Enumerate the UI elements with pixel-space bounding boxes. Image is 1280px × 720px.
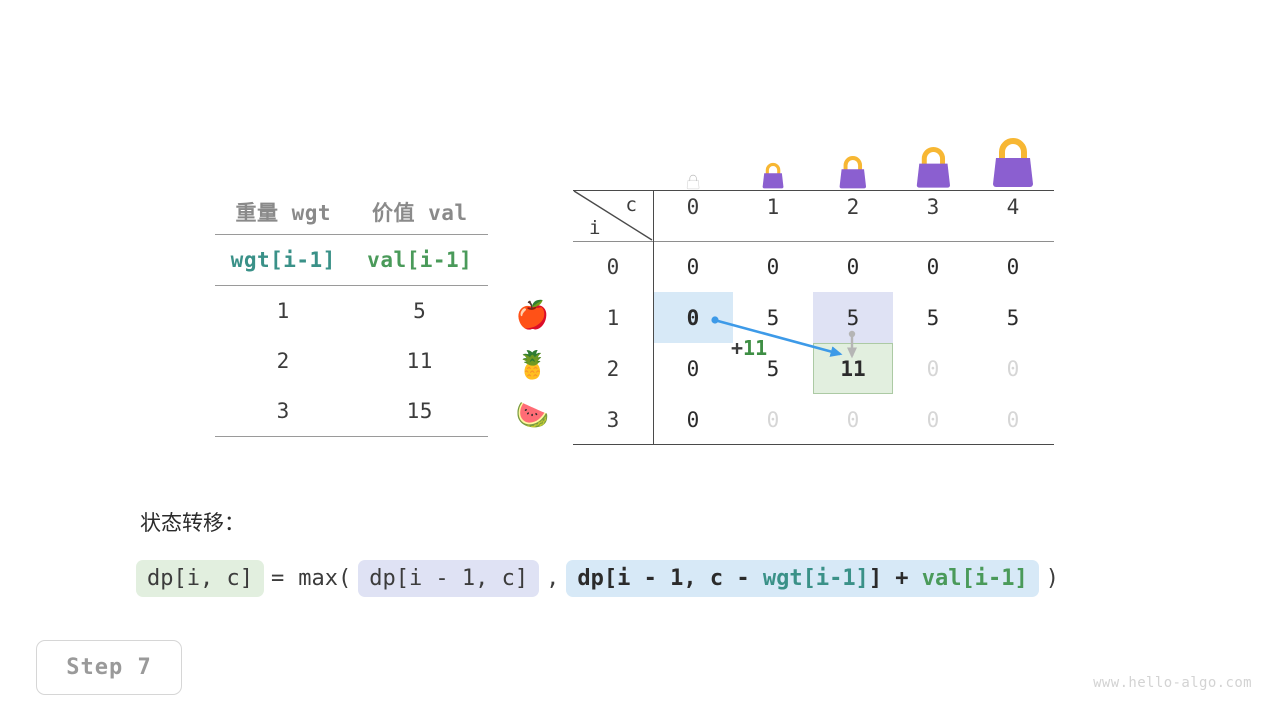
items-header-value: 价值 val (352, 197, 489, 227)
formula-comma: , (539, 566, 566, 591)
formula-option-skip: dp[i - 1, c] (358, 560, 539, 597)
dp-col-header-4: 4 (973, 195, 1053, 219)
dp-cell-3-2: 0 (813, 394, 893, 445)
dp-corner-col-label: c (626, 194, 637, 216)
formula-take-prefix: dp[i - 1, c - (577, 566, 762, 591)
item-1-weight: 1 (215, 299, 352, 323)
status-badge: Step 7 (36, 640, 182, 695)
dp-corner-row-label: i (589, 217, 600, 239)
fruit-icon-column: 🍎 🍍 🍉 (505, 290, 560, 440)
dp-cell-0-4: 0 (973, 241, 1053, 292)
items-table-subheader-row: wgt[i-1] val[i-1] (215, 235, 488, 285)
formula-option-take: dp[i - 1, c - wgt[i-1]] + val[i-1] (566, 560, 1038, 597)
bag-icon-capacity-0 (653, 120, 733, 190)
items-table-header-row: 重量 wgt 价值 val (215, 190, 488, 234)
item-2-value: 11 (352, 349, 489, 373)
dp-cell-0-0: 0 (653, 241, 733, 292)
dp-cell-2-4: 0 (973, 343, 1053, 394)
bag-icon-capacity-2 (813, 120, 893, 190)
bag-icon-capacity-1 (733, 120, 813, 190)
table-row: 1 5 (215, 286, 488, 336)
dp-cell-3-3: 0 (893, 394, 973, 445)
dp-cell-0-1: 0 (733, 241, 813, 292)
dp-row-header-3: 3 (573, 408, 653, 432)
item-3-value: 15 (352, 399, 489, 423)
dp-col-header-1: 1 (733, 195, 813, 219)
items-table-divider-bottom (215, 436, 488, 437)
dp-cell-3-1: 0 (733, 394, 813, 445)
dp-table: c i 01234 0123 000000555505110000000 (573, 190, 1054, 445)
diagonal-divider-icon (573, 190, 653, 241)
items-subheader-wgt: wgt[i-1] (215, 248, 352, 272)
dp-cell-0-2: 0 (813, 241, 893, 292)
dp-col-header-0: 0 (653, 195, 733, 219)
gain-annotation: +11 (731, 336, 767, 360)
watermelon-icon: 🍉 (505, 390, 560, 440)
item-3-weight: 3 (215, 399, 352, 423)
transition-title: 状态转移： (140, 507, 245, 537)
dp-cell-1-4: 5 (973, 292, 1053, 343)
apple-icon: 🍎 (505, 290, 560, 340)
dp-cell-0-3: 0 (893, 241, 973, 292)
formula-target: dp[i, c] (136, 560, 264, 597)
dp-row-header-1: 1 (573, 306, 653, 330)
formula-take-wgt: wgt[i-1] (763, 566, 869, 591)
formula-take-val: val[i-1] (922, 566, 1028, 591)
formula-close-paren: ) (1039, 566, 1066, 591)
bag-icon-row (653, 120, 1053, 190)
dp-row-header-0: 0 (573, 255, 653, 279)
item-2-weight: 2 (215, 349, 352, 373)
dp-cell-1-3: 5 (893, 292, 973, 343)
table-row: 2 11 (215, 336, 488, 386)
dp-col-header-2: 2 (813, 195, 893, 219)
gain-amount: 11 (743, 336, 767, 360)
items-header-weight: 重量 wgt (215, 197, 352, 227)
transition-formula: dp[i, c] = max( dp[i - 1, c] , dp[i - 1,… (136, 560, 1066, 597)
table-row: 3 15 (215, 386, 488, 436)
dp-cell-2-0: 0 (653, 343, 733, 394)
dp-row-header-2: 2 (573, 357, 653, 381)
items-subheader-val: val[i-1] (352, 248, 489, 272)
dp-cell-3-4: 0 (973, 394, 1053, 445)
watermark: www.hello-algo.com (1093, 675, 1252, 691)
formula-take-mid: ] + (869, 566, 922, 591)
bag-icon-capacity-3 (893, 120, 973, 190)
dp-col-header-3: 3 (893, 195, 973, 219)
dp-cell-1-2: 5 (813, 292, 893, 343)
items-table: 重量 wgt 价值 val wgt[i-1] val[i-1] 1 5 2 11… (215, 190, 488, 437)
slide-canvas: 重量 wgt 价值 val wgt[i-1] val[i-1] 1 5 2 11… (0, 0, 1280, 720)
dp-cell-2-2: 11 (813, 343, 893, 394)
item-1-value: 5 (352, 299, 489, 323)
bag-icon-capacity-4 (973, 120, 1053, 190)
dp-cell-2-3: 0 (893, 343, 973, 394)
dp-corner-cell: c i (573, 190, 653, 241)
dp-cell-3-0: 0 (653, 394, 733, 445)
formula-equals: = (264, 566, 291, 591)
dp-cell-1-0: 0 (653, 292, 733, 343)
formula-max-open: max( (291, 566, 358, 591)
plus-sign: + (731, 336, 743, 360)
pineapple-icon: 🍍 (505, 340, 560, 390)
